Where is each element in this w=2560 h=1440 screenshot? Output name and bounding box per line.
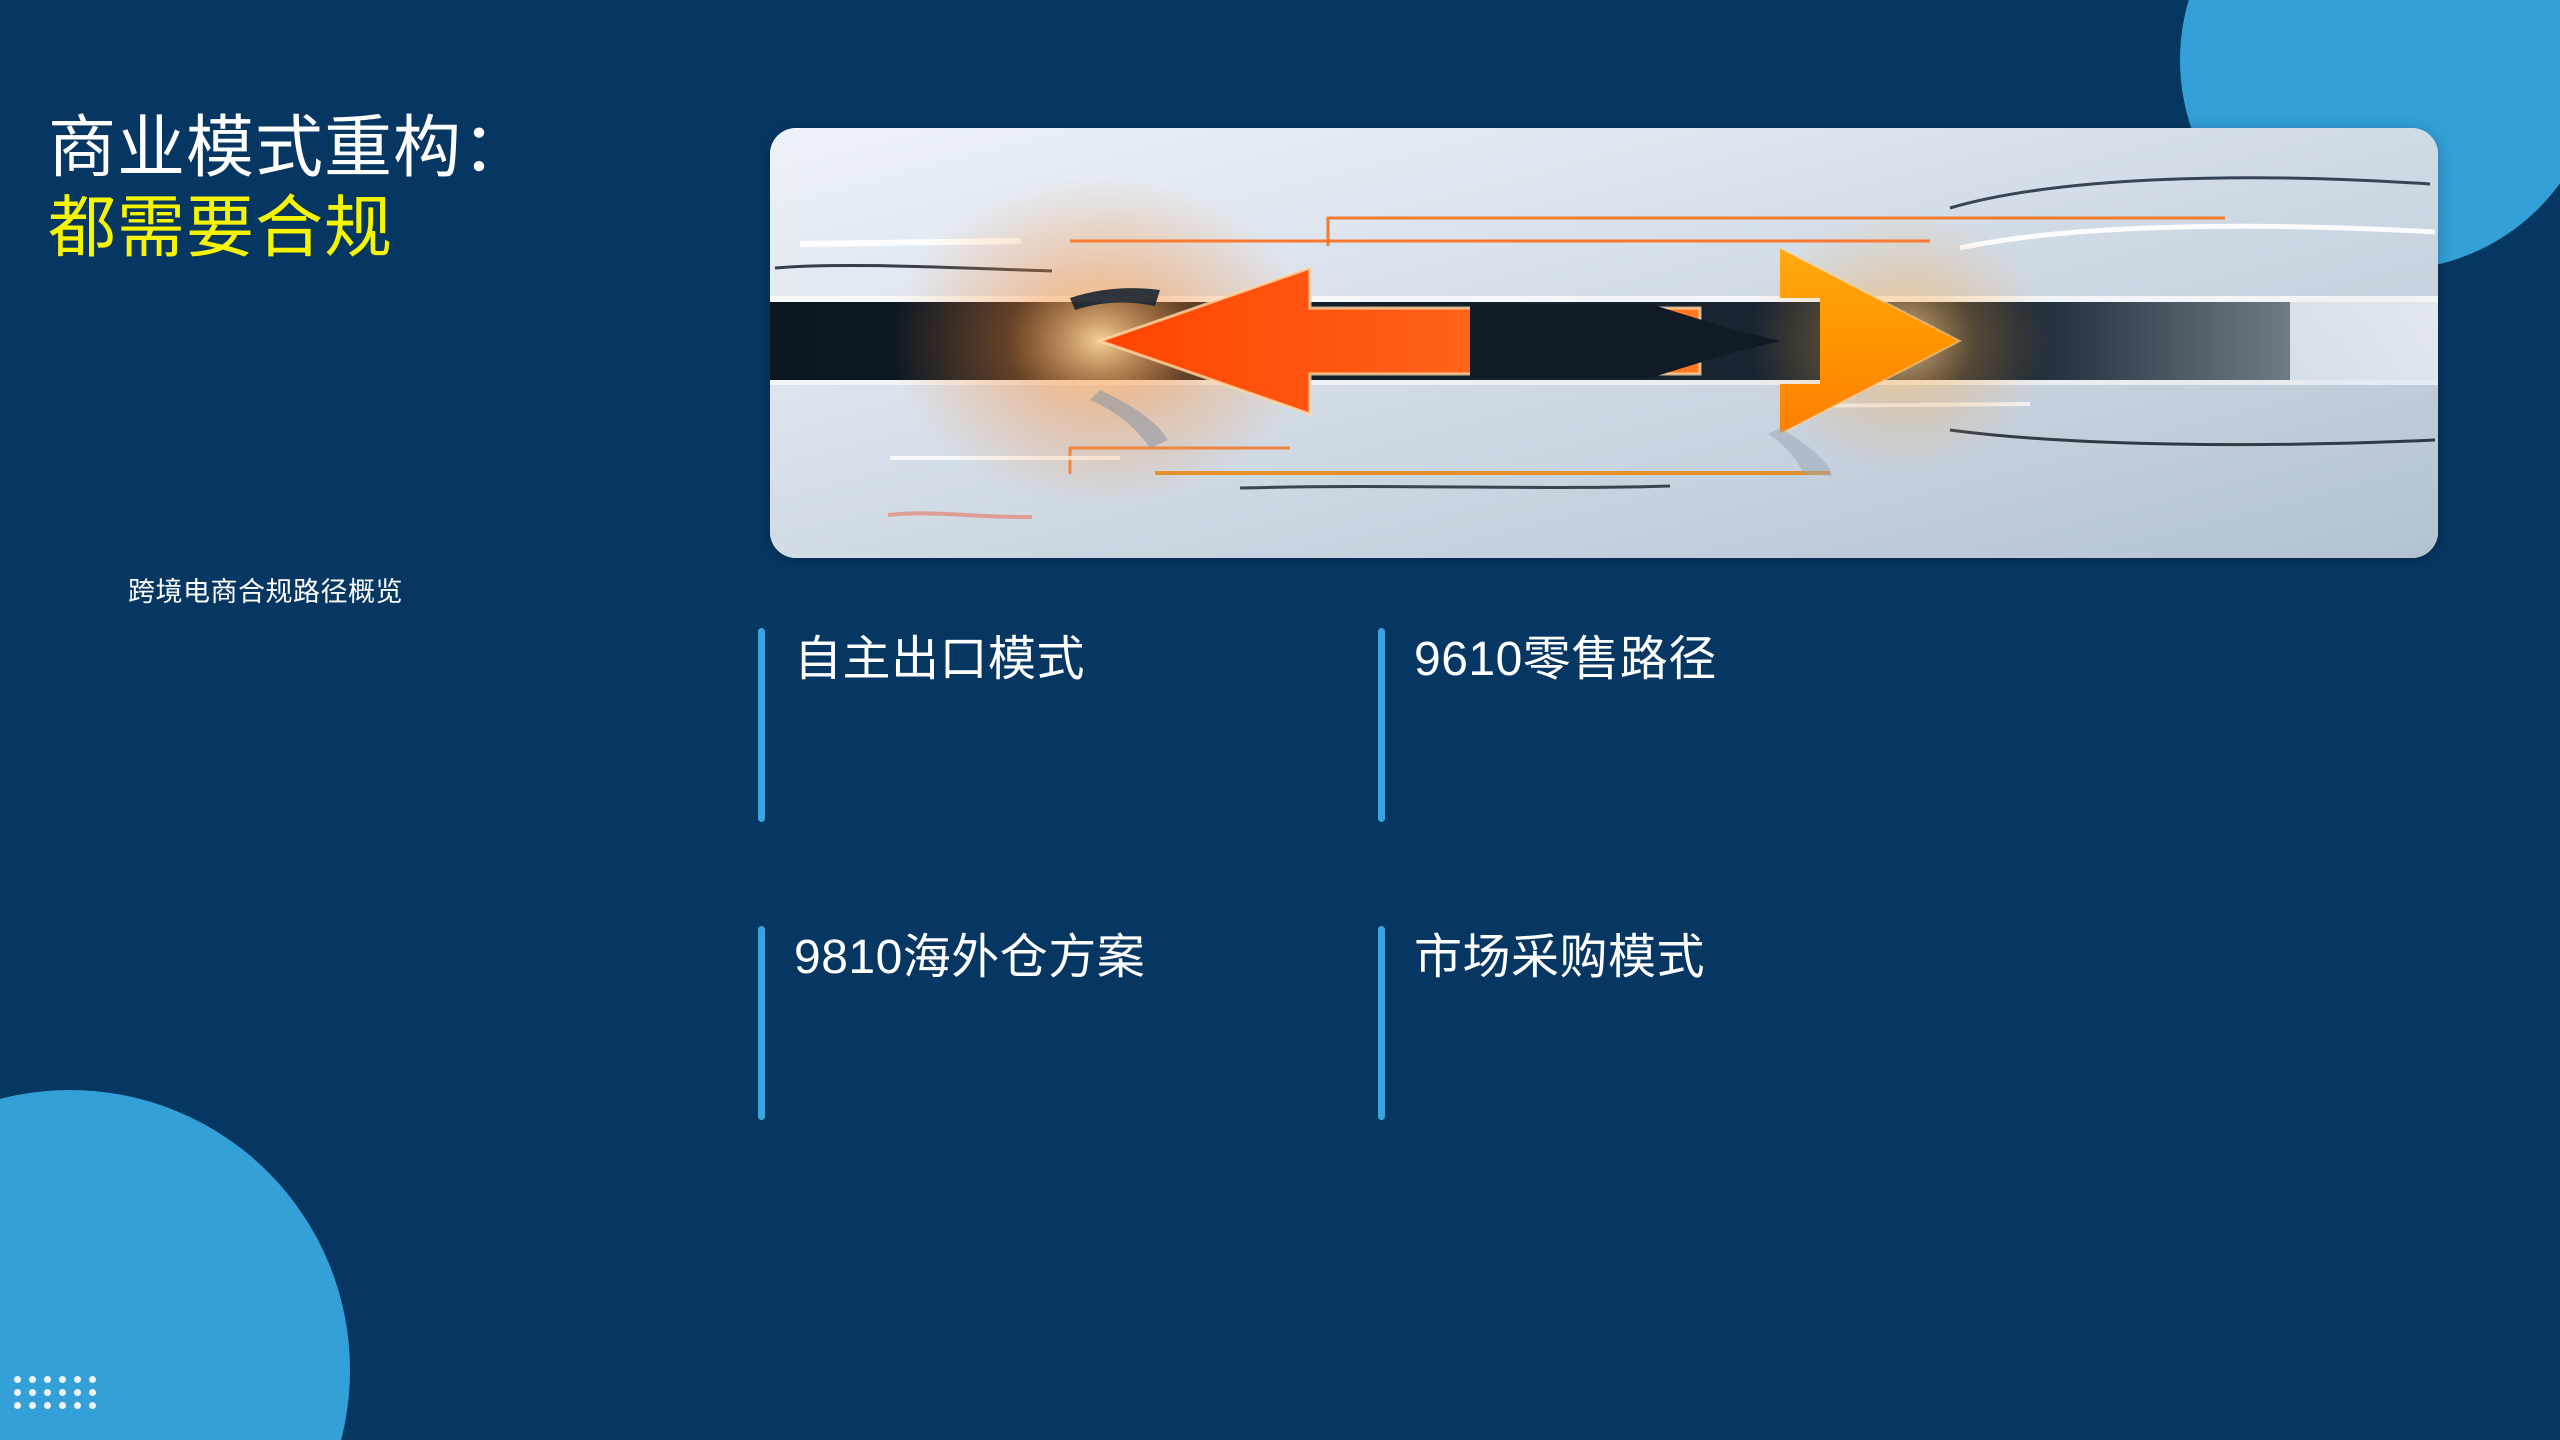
- model-items-grid: 自主出口模式 9610零售路径 9810海外仓方案 市场采购模式: [758, 628, 2458, 1126]
- accent-bar-icon: [758, 628, 765, 822]
- page-title: 商业模式重构： 都需要合规: [48, 108, 748, 268]
- accent-bar-icon: [1378, 628, 1385, 822]
- list-item[interactable]: 9610零售路径: [1378, 628, 1998, 828]
- slide: 商业模式重构： 都需要合规 跨境电商合规路径概览: [0, 0, 2560, 1440]
- list-item-label: 9810海外仓方案: [794, 926, 1378, 982]
- accent-bar-icon: [1378, 926, 1385, 1120]
- list-item[interactable]: 自主出口模式: [758, 628, 1378, 828]
- list-item-label: 市场采购模式: [1414, 926, 1998, 982]
- hero-image: [770, 128, 2438, 558]
- left-column: 商业模式重构： 都需要合规 跨境电商合规路径概览: [0, 0, 770, 1440]
- title-line-primary: 商业模式重构：: [48, 108, 748, 188]
- subtitle-text: 跨境电商合规路径概览: [128, 570, 403, 609]
- list-item-label: 自主出口模式: [794, 628, 1378, 684]
- title-line-highlight: 都需要合规: [48, 188, 748, 268]
- list-item[interactable]: 市场采购模式: [1378, 926, 1998, 1126]
- hero-arrows-illustration: [770, 128, 2438, 558]
- list-item[interactable]: 9810海外仓方案: [758, 926, 1378, 1126]
- accent-bar-icon: [758, 926, 765, 1120]
- list-item-label: 9610零售路径: [1414, 628, 1998, 684]
